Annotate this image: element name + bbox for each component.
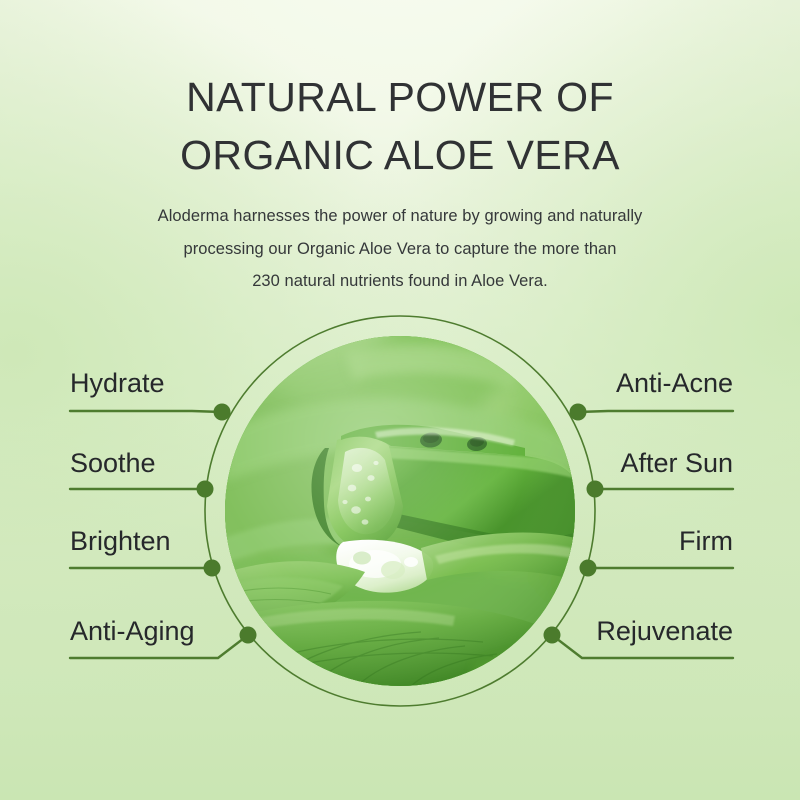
node-firm — [580, 560, 597, 577]
node-soothe — [197, 481, 214, 498]
benefit-label-hydrate: Hydrate — [70, 370, 165, 397]
node-brighten — [204, 560, 221, 577]
infographic-canvas: NATURAL POWER OF ORGANIC ALOE VERA Alode… — [0, 0, 800, 800]
connector-anti-acne — [578, 411, 733, 412]
benefit-label-rejuvenate: Rejuvenate — [596, 618, 733, 645]
aloe-vera-photo — [225, 336, 575, 686]
node-anti-acne — [570, 404, 587, 421]
benefit-label-brighten: Brighten — [70, 528, 171, 555]
benefit-label-anti-aging: Anti-Aging — [70, 618, 195, 645]
node-anti-aging — [240, 627, 257, 644]
benefit-label-after-sun: After Sun — [620, 450, 733, 477]
benefit-label-anti-acne: Anti-Acne — [616, 370, 733, 397]
connector-hydrate — [70, 411, 222, 412]
node-after-sun — [587, 481, 604, 498]
benefit-label-firm: Firm — [679, 528, 733, 555]
diagram-stage: Hydrate Soothe Brighten Anti-Aging Anti-… — [0, 0, 800, 800]
node-hydrate — [214, 404, 231, 421]
benefit-label-soothe: Soothe — [70, 450, 156, 477]
node-rejuvenate — [544, 627, 561, 644]
